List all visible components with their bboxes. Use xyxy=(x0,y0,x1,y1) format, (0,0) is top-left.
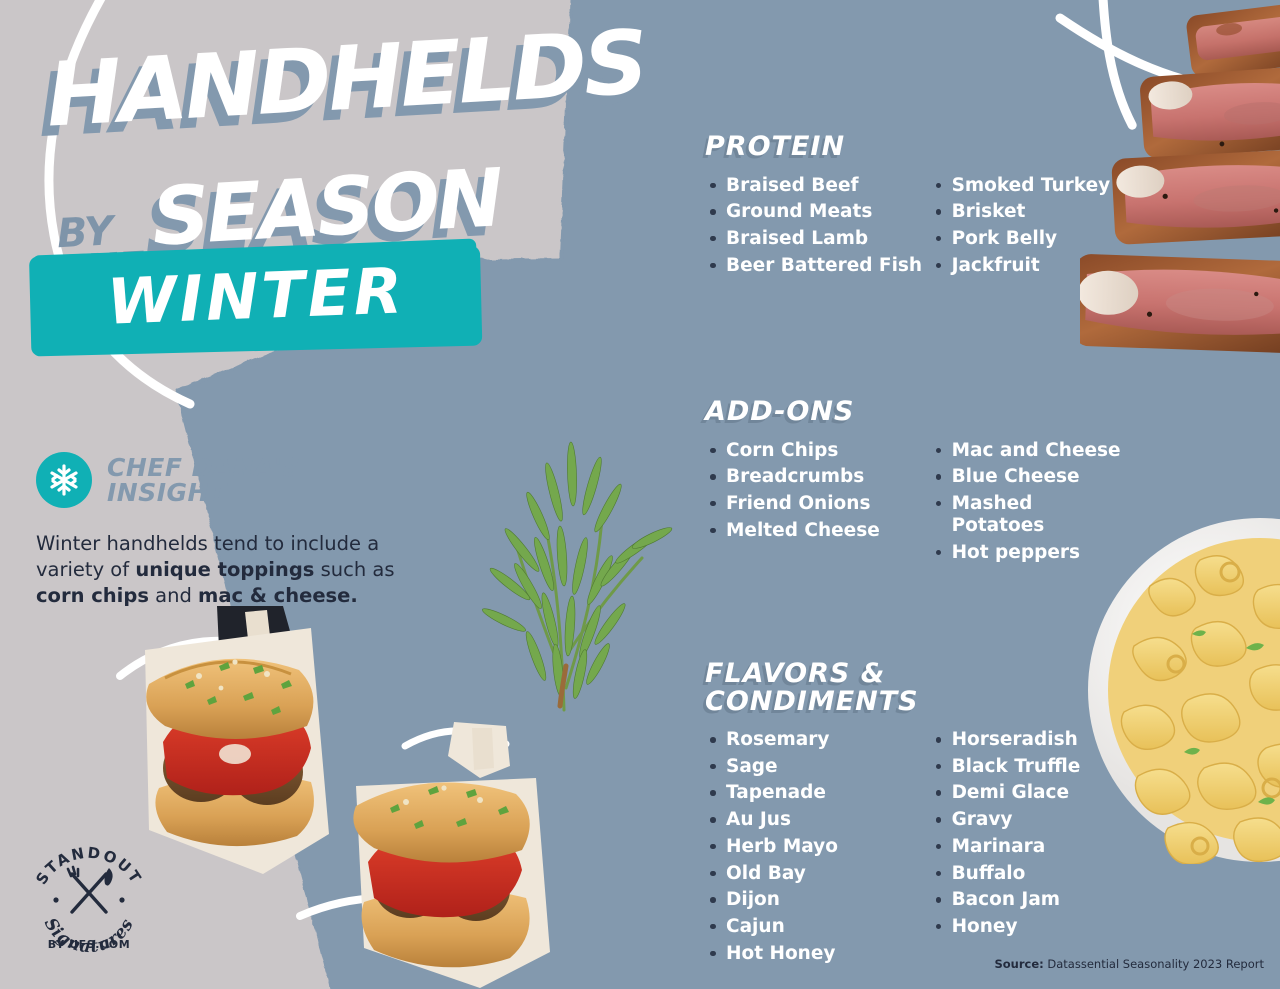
chef-insight-title: CHEF DANA'S INSIGHT xyxy=(107,455,301,505)
list-item: Sage xyxy=(705,756,931,778)
insight-bold-3: mac & cheese. xyxy=(198,584,358,607)
snowflake-icon xyxy=(36,452,92,508)
flavors-title-line1: FLAVORS & xyxy=(705,660,1125,688)
list-item: Breadcrumbs xyxy=(705,466,931,488)
insight-bold-1: unique toppings xyxy=(135,558,314,581)
list-item: Buffalo xyxy=(931,863,1125,885)
list-item: Smoked Turkey xyxy=(931,175,1125,197)
list-item: Beer Battered Fish xyxy=(705,255,931,277)
list-item: Blue Cheese xyxy=(931,466,1125,488)
list-item: Ground Meats xyxy=(705,201,931,223)
flavors-list-2: Horseradish Black Truffle Demi Glace Gra… xyxy=(931,729,1125,938)
infographic-canvas: HANDHELDS BY THE SEASON WINTER xyxy=(0,0,1280,989)
section-flavors-column-1: Rosemary Sage Tapenade Au Jus Herb Mayo … xyxy=(705,729,931,969)
add-ons-list-1: Corn Chips Breadcrumbs Friend Onions Mel… xyxy=(705,440,931,542)
title-season: SEASON xyxy=(150,166,502,249)
insight-text-3: and xyxy=(149,584,198,607)
list-item: Hot peppers xyxy=(931,542,1125,564)
list-item: Cajun xyxy=(705,916,931,938)
list-item: Braised Beef xyxy=(705,175,931,197)
add-ons-list-2: Mac and Cheese Blue Cheese Mashed Potato… xyxy=(931,440,1125,564)
rosemary-sprig-photo xyxy=(466,388,676,718)
chef-insight-block: CHEF DANA'S INSIGHT Winter handhelds ten… xyxy=(36,452,414,609)
title-handhelds: HANDHELDS xyxy=(45,27,647,131)
season-badge-label: WINTER xyxy=(32,239,479,355)
protein-list-2: Smoked Turkey Brisket Pork Belly Jackfru… xyxy=(931,175,1125,277)
flavors-list-1: Rosemary Sage Tapenade Au Jus Herb Mayo … xyxy=(705,729,931,965)
protein-list-1: Braised Beef Ground Meats Braised Lamb B… xyxy=(705,175,931,277)
section-add-ons-column-1: Corn Chips Breadcrumbs Friend Onions Mel… xyxy=(705,440,931,569)
list-item: Rosemary xyxy=(705,729,931,751)
fork-knife-crossed-icon xyxy=(53,867,124,912)
list-item: Horseradish xyxy=(931,729,1125,751)
section-protein-column-1: Braised Beef Ground Meats Braised Lamb B… xyxy=(705,175,931,282)
list-item: Demi Glace xyxy=(931,782,1125,804)
chef-insight-body: Winter handhelds tend to include a varie… xyxy=(36,531,414,609)
source-text: Datassential Seasonality 2023 Report xyxy=(1044,957,1264,971)
list-item: Gravy xyxy=(931,809,1125,831)
section-protein: PROTEIN Braised Beef Ground Meats Braise… xyxy=(705,133,1125,281)
source-label: Source: xyxy=(994,957,1043,971)
list-item: Bacon Jam xyxy=(931,889,1125,911)
section-add-ons-column-2: Mac and Cheese Blue Cheese Mashed Potato… xyxy=(931,440,1125,569)
section-flavors-condiments: FLAVORS & CONDIMENTS Rosemary Sage Tapen… xyxy=(705,660,1125,969)
list-item: Hot Honey xyxy=(705,943,931,965)
section-protein-title: PROTEIN xyxy=(705,133,1125,161)
list-item: Honey xyxy=(931,916,1125,938)
chef-insight-title-line2: INSIGHT xyxy=(107,480,301,505)
chef-insight-header: CHEF DANA'S INSIGHT xyxy=(36,452,414,508)
list-item: Dijon xyxy=(705,889,931,911)
list-item: Old Bay xyxy=(705,863,931,885)
insight-text-2: such as xyxy=(314,558,394,581)
chef-insight-title-line1: CHEF DANA'S xyxy=(107,455,301,480)
logo-arc-top: STANDOUT xyxy=(32,844,146,888)
section-add-ons: ADD-ONS Corn Chips Breadcrumbs Friend On… xyxy=(705,398,1125,568)
logo-byline: BY UFS.COM xyxy=(26,938,152,951)
list-item: Corn Chips xyxy=(705,440,931,462)
list-item: Tapenade xyxy=(705,782,931,804)
list-item: Brisket xyxy=(931,201,1125,223)
list-item: Friend Onions xyxy=(705,493,931,515)
list-item: Braised Lamb xyxy=(705,228,931,250)
list-item: Pork Belly xyxy=(931,228,1125,250)
list-item: Mac and Cheese xyxy=(931,440,1125,462)
insight-bold-2: corn chips xyxy=(36,584,149,607)
list-item: Black Truffle xyxy=(931,756,1125,778)
list-item: Melted Cheese xyxy=(705,520,931,542)
flavors-title-line2: CONDIMENTS xyxy=(705,688,1125,716)
source-note: Source: Datassential Seasonality 2023 Re… xyxy=(994,957,1264,971)
list-item: Jackfruit xyxy=(931,255,1125,277)
list-item: Mashed Potatoes xyxy=(931,493,1125,537)
list-item: Herb Mayo xyxy=(705,836,931,858)
list-item: Au Jus xyxy=(705,809,931,831)
list-item: Marinara xyxy=(931,836,1125,858)
section-flavors-column-2: Horseradish Black Truffle Demi Glace Gra… xyxy=(931,729,1125,969)
svg-text:STANDOUT: STANDOUT xyxy=(32,844,146,888)
meatball-slider-photo-secondary xyxy=(330,722,590,989)
section-protein-column-2: Smoked Turkey Brisket Pork Belly Jackfru… xyxy=(931,175,1125,282)
section-flavors-condiments-title: FLAVORS & CONDIMENTS xyxy=(705,660,1125,715)
section-add-ons-title: ADD-ONS xyxy=(705,398,1125,426)
